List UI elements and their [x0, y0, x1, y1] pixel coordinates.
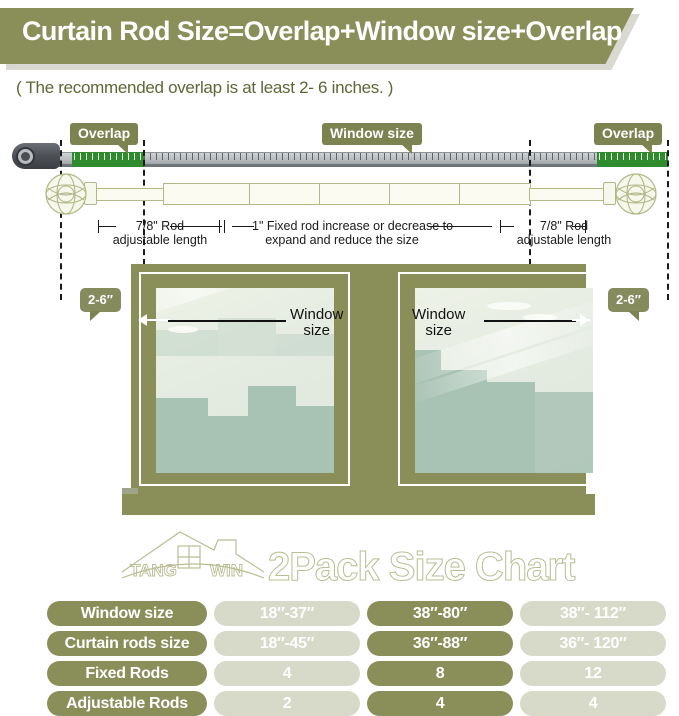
table-cell: 4 — [367, 691, 513, 716]
skyline-block-far — [218, 318, 276, 356]
skyline-block — [487, 382, 535, 473]
window-size-label-left-line2: size — [290, 323, 343, 339]
annotation-left-adjustable-line1: 7/8" Rod — [136, 219, 184, 233]
rod-segment-2 — [249, 183, 321, 205]
dim-line-fixed-left — [232, 226, 254, 227]
rod-segment-5 — [459, 183, 531, 205]
annotation-left-adjustable-line2: adjustable length — [113, 233, 208, 247]
callout-window-size: Window size — [322, 123, 422, 145]
table-cell: 8 — [367, 661, 513, 686]
callout-tail-icon — [641, 144, 652, 154]
table-cell: 2 — [214, 691, 360, 716]
annotation-fixed-rod-line2: expand and reduce the size — [265, 233, 419, 247]
table-row: Curtain rods size 18″-45″ 36″-88″ 36″- 1… — [47, 631, 666, 656]
callout-margin-right-label: 2-6″ — [616, 292, 641, 307]
size-chart-table: Window size 18″-37″ 38″-80″ 38″- 112″ Cu… — [47, 601, 666, 716]
window-size-label-right: Window size — [412, 307, 465, 339]
logo-text-right: WIN — [210, 561, 243, 580]
page-title: Curtain Rod Size=Overlap+Window size+Ove… — [22, 16, 622, 47]
rod-segment-1 — [163, 183, 251, 205]
callout-margin-left-label: 2-6″ — [88, 292, 113, 307]
cloud-icon — [168, 326, 198, 333]
window-sill — [122, 494, 595, 515]
row-label: Fixed Rods — [47, 661, 207, 686]
annotation-fixed-rod-line1: 1" Fixed rod increase or decrease to — [252, 219, 453, 233]
cloud-icon — [487, 302, 531, 310]
table-cell: 4 — [214, 661, 360, 686]
table-cell: 4 — [520, 691, 666, 716]
callout-margin-left: 2-6″ — [80, 288, 121, 312]
brand-logo-icon: TANG WIN — [118, 528, 268, 590]
chart-title: 2Pack Size Chart — [268, 545, 574, 590]
table-cell: 36″-88″ — [367, 631, 513, 656]
annotation-fixed-rod: 1" Fixed rod increase or decrease to exp… — [252, 219, 432, 247]
header-banner: Curtain Rod Size=Overlap+Window size+Ove… — [0, 8, 640, 66]
window-size-label-left-line1: Window — [290, 306, 343, 323]
rod-segment-4 — [389, 183, 461, 205]
annotation-left-adjustable: 7/8" Rod adjustable length — [100, 219, 220, 247]
table-row: Window size 18″-37″ 38″-80″ 38″- 112″ — [47, 601, 666, 626]
measure-line-left — [168, 320, 286, 322]
tape-measure-hub-center — [21, 152, 30, 161]
logo-text-left: TANG — [130, 561, 177, 580]
infographic-page: Curtain Rod Size=Overlap+Window size+Ove… — [0, 0, 679, 716]
callout-tail-icon — [628, 311, 639, 321]
tape-ticks-left — [74, 153, 144, 160]
window-size-label-right-line1: Window — [412, 306, 465, 323]
table-cell: 38″- 112″ — [520, 601, 666, 626]
callout-tail-icon — [401, 144, 412, 154]
callout-overlap-right-label: Overlap — [602, 125, 654, 141]
window-size-label-right-line2: size — [412, 323, 465, 339]
annotation-right-adjustable-line1: 7/8" Rod — [540, 219, 588, 233]
callout-overlap-left-label: Overlap — [78, 125, 130, 141]
measure-line-white-left — [146, 319, 170, 321]
dim-cap-left-a — [98, 220, 99, 233]
skyline-block — [296, 406, 334, 473]
callout-tail-icon — [117, 144, 128, 154]
table-cell: 38″-80″ — [367, 601, 513, 626]
table-cell: 12 — [520, 661, 666, 686]
finial-right-icon — [614, 172, 658, 216]
skyline-block — [248, 386, 296, 473]
window-size-label-left: Window size — [290, 307, 343, 339]
callout-margin-right: 2-6″ — [608, 288, 649, 312]
callout-overlap-right: Overlap — [594, 123, 662, 145]
measure-line-right — [484, 320, 576, 322]
table-row: Adjustable Rods 2 4 4 — [47, 691, 666, 716]
skyline-block-far — [156, 330, 218, 356]
finial-left-icon — [44, 172, 88, 216]
rod-adjustable-right — [529, 188, 606, 201]
tape-ticks-right — [599, 153, 668, 160]
skyline-block — [156, 398, 208, 473]
guide-line-overlap-left-outer — [60, 140, 62, 300]
table-cell: 18″-37″ — [214, 601, 360, 626]
skyline-block — [535, 392, 593, 473]
annotation-right-adjustable: 7/8" Rod adjustable length — [504, 219, 624, 247]
callout-overlap-left: Overlap — [70, 123, 138, 145]
callout-window-size-label: Window size — [330, 125, 414, 141]
row-label: Adjustable Rods — [47, 691, 207, 716]
table-cell: 18″-45″ — [214, 631, 360, 656]
table-row: Fixed Rods 4 8 12 — [47, 661, 666, 686]
skyline-block — [208, 416, 248, 473]
table-cell: 36″- 120″ — [520, 631, 666, 656]
rod-segment-3 — [319, 183, 391, 205]
row-label: Window size — [47, 601, 207, 626]
callout-tail-icon — [90, 311, 101, 321]
dim-cap-left-b2 — [224, 220, 225, 233]
header-subtitle: ( The recommended overlap is at least 2-… — [16, 78, 393, 98]
rod-adjustable-left — [95, 188, 167, 201]
guide-line-overlap-right-outer — [667, 140, 669, 300]
row-label: Curtain rods size — [47, 631, 207, 656]
annotation-right-adjustable-line2: adjustable length — [517, 233, 612, 247]
measure-arrow-right-icon — [580, 314, 589, 326]
